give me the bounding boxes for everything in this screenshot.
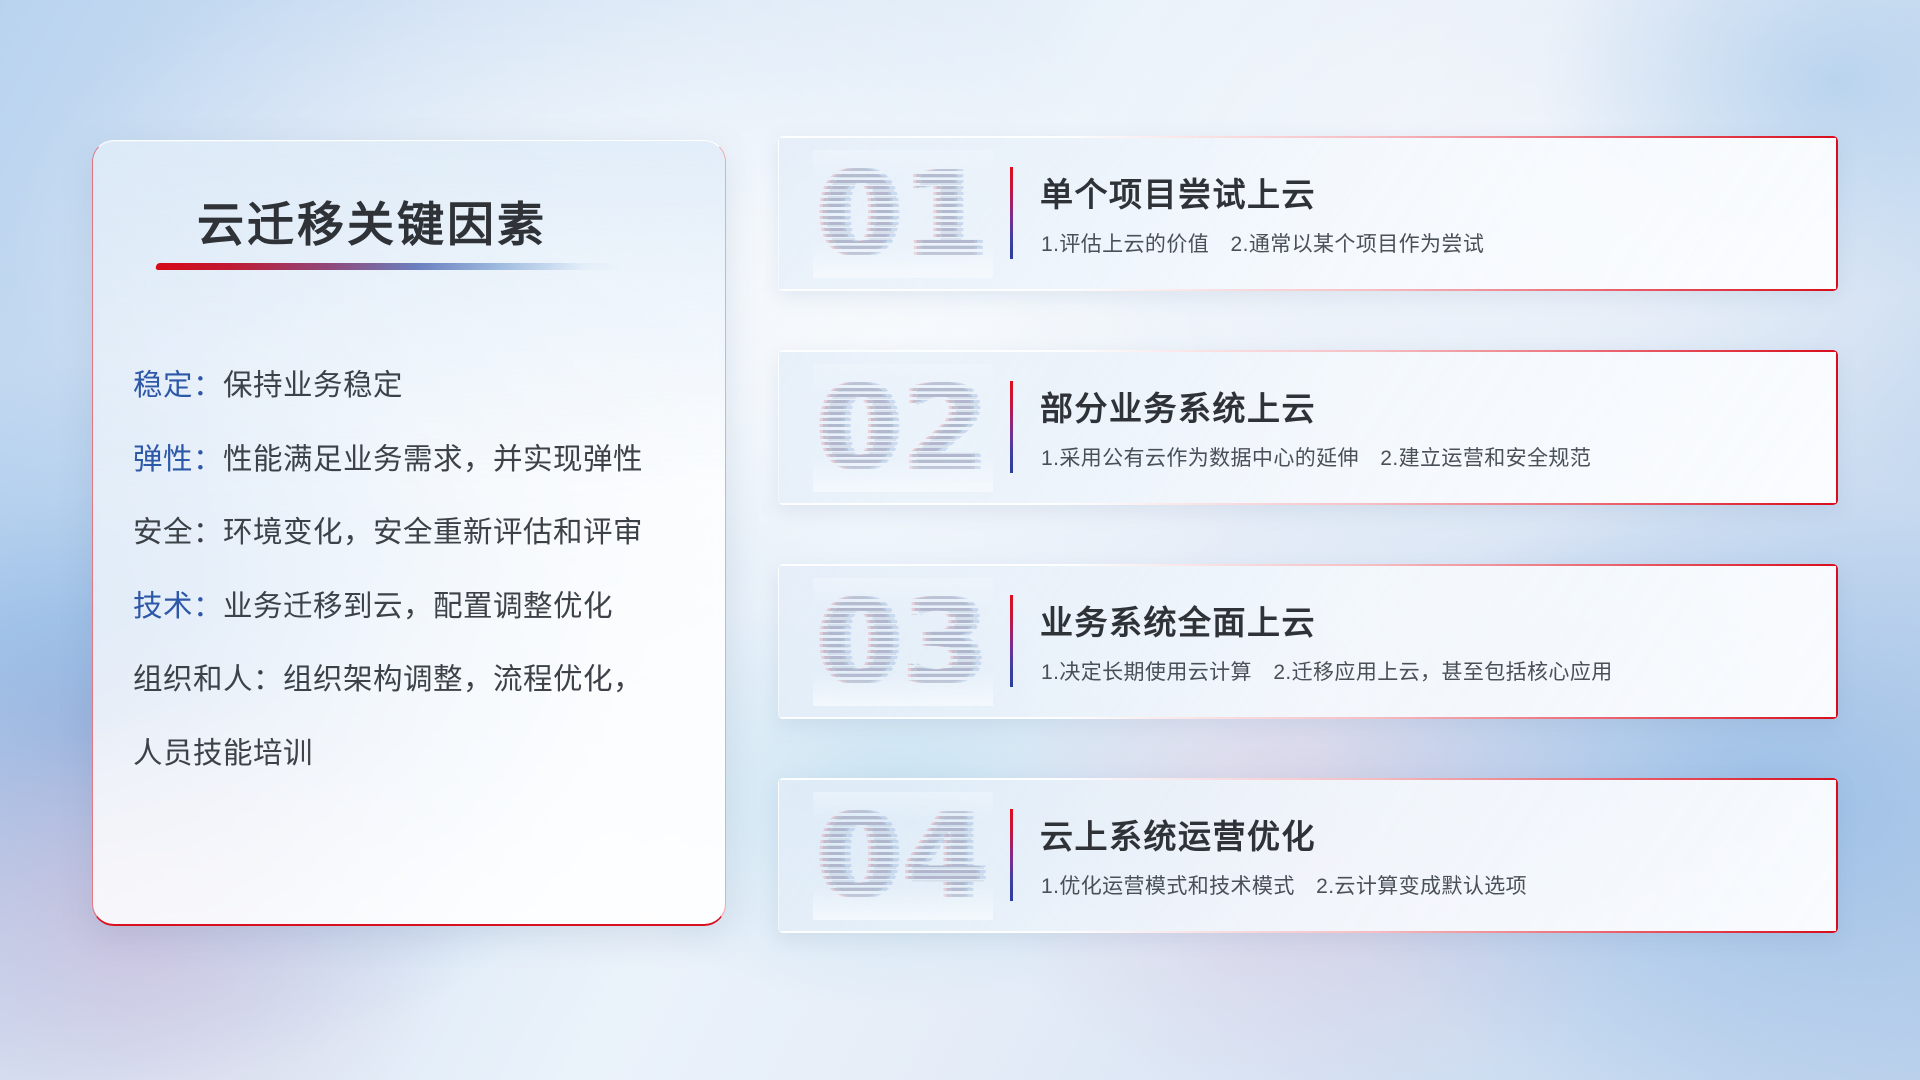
migration-stage-card[interactable]: 02020202部分业务系统上云1.采用公有云作为数据中心的延伸 2.建立运营和…	[778, 350, 1838, 505]
card-right-border	[1836, 778, 1839, 933]
card-top-border	[778, 350, 1838, 352]
card-bottom-border	[778, 503, 1838, 505]
factor-text: 保持业务稳定	[223, 369, 403, 402]
card-title: 部分业务系统上云	[1040, 382, 1316, 430]
migration-stage-card-list: 01010101单个项目尝试上云1.评估上云的价值 2.通常以某个项目作为尝试0…	[778, 136, 1838, 933]
card-left-border	[778, 136, 779, 291]
card-accent-bar	[1010, 381, 1013, 473]
factor-label: 稳定：	[133, 369, 223, 402]
stage-number-fade-overlay	[813, 150, 993, 278]
card-accent-bar	[1010, 595, 1013, 687]
factor-row: 组织和人：组织架构调整，流程优化，	[133, 665, 703, 695]
card-top-border	[778, 136, 1838, 138]
factor-row: 弹性：性能满足业务需求，并实现弹性	[133, 445, 703, 475]
factor-label: 组织和人：	[133, 663, 283, 696]
card-bottom-border	[778, 717, 1838, 719]
card-title: 云上系统运营优化	[1040, 810, 1316, 858]
factor-list: 稳定：保持业务稳定弹性：性能满足业务需求，并实现弹性安全：环境变化，安全重新评估…	[133, 371, 703, 768]
stage-number-glitch-icon: 04040404	[813, 792, 993, 920]
card-bottom-border	[778, 289, 1838, 291]
factor-text: 性能满足业务需求，并实现弹性	[223, 443, 643, 476]
stage-number-glitch-icon: 03030303	[813, 578, 993, 706]
card-top-border	[778, 778, 1838, 780]
factor-row: 稳定：保持业务稳定	[133, 371, 703, 401]
card-description: 1.决定长期使用云计算 2.迁移应用上云，甚至包括核心应用	[1041, 656, 1613, 686]
card-left-border	[778, 778, 779, 933]
factor-label: 技术：	[133, 590, 223, 623]
card-accent-bar	[1010, 809, 1013, 901]
card-title: 单个项目尝试上云	[1040, 168, 1316, 216]
title-underline-accent	[155, 263, 622, 270]
stage-number-fade-overlay	[813, 364, 993, 492]
card-title: 业务系统全面上云	[1040, 596, 1316, 644]
card-description: 1.优化运营模式和技术模式 2.云计算变成默认选项	[1041, 870, 1527, 900]
card-left-border	[778, 350, 779, 505]
stage-number-glitch-icon: 02020202	[813, 364, 993, 492]
factor-label: 安全：	[133, 516, 223, 549]
factor-text: 业务迁移到云，配置调整优化	[223, 590, 613, 623]
key-factors-panel: 云迁移关键因素 稳定：保持业务稳定弹性：性能满足业务需求，并实现弹性安全：环境变…	[92, 140, 726, 926]
factor-text: 人员技能培训	[133, 737, 313, 770]
card-right-border	[1836, 350, 1839, 505]
card-description: 1.采用公有云作为数据中心的延伸 2.建立运营和安全规范	[1041, 442, 1591, 472]
stage-number-fade-overlay	[813, 792, 993, 920]
card-left-border	[778, 564, 779, 719]
card-description: 1.评估上云的价值 2.通常以某个项目作为尝试	[1041, 228, 1484, 258]
factor-row: 人员技能培训	[133, 739, 703, 769]
migration-stage-card[interactable]: 01010101单个项目尝试上云1.评估上云的价值 2.通常以某个项目作为尝试	[778, 136, 1838, 291]
factor-label: 弹性：	[133, 443, 223, 476]
stage-number-fade-overlay	[813, 578, 993, 706]
migration-stage-card[interactable]: 03030303业务系统全面上云1.决定长期使用云计算 2.迁移应用上云，甚至包…	[778, 564, 1838, 719]
card-accent-bar	[1010, 167, 1013, 259]
card-right-border	[1836, 136, 1839, 291]
card-top-border	[778, 564, 1838, 566]
factor-text: 组织架构调整，流程优化，	[283, 663, 643, 696]
card-right-border	[1836, 564, 1839, 719]
panel-title: 云迁移关键因素	[197, 186, 547, 255]
factor-row: 技术：业务迁移到云，配置调整优化	[133, 592, 703, 622]
stage-number-glitch-icon: 01010101	[813, 150, 993, 278]
card-bottom-border	[778, 931, 1838, 933]
factor-text: 环境变化，安全重新评估和评审	[223, 516, 643, 549]
factor-row: 安全：环境变化，安全重新评估和评审	[133, 518, 703, 548]
migration-stage-card[interactable]: 04040404云上系统运营优化1.优化运营模式和技术模式 2.云计算变成默认选…	[778, 778, 1838, 933]
